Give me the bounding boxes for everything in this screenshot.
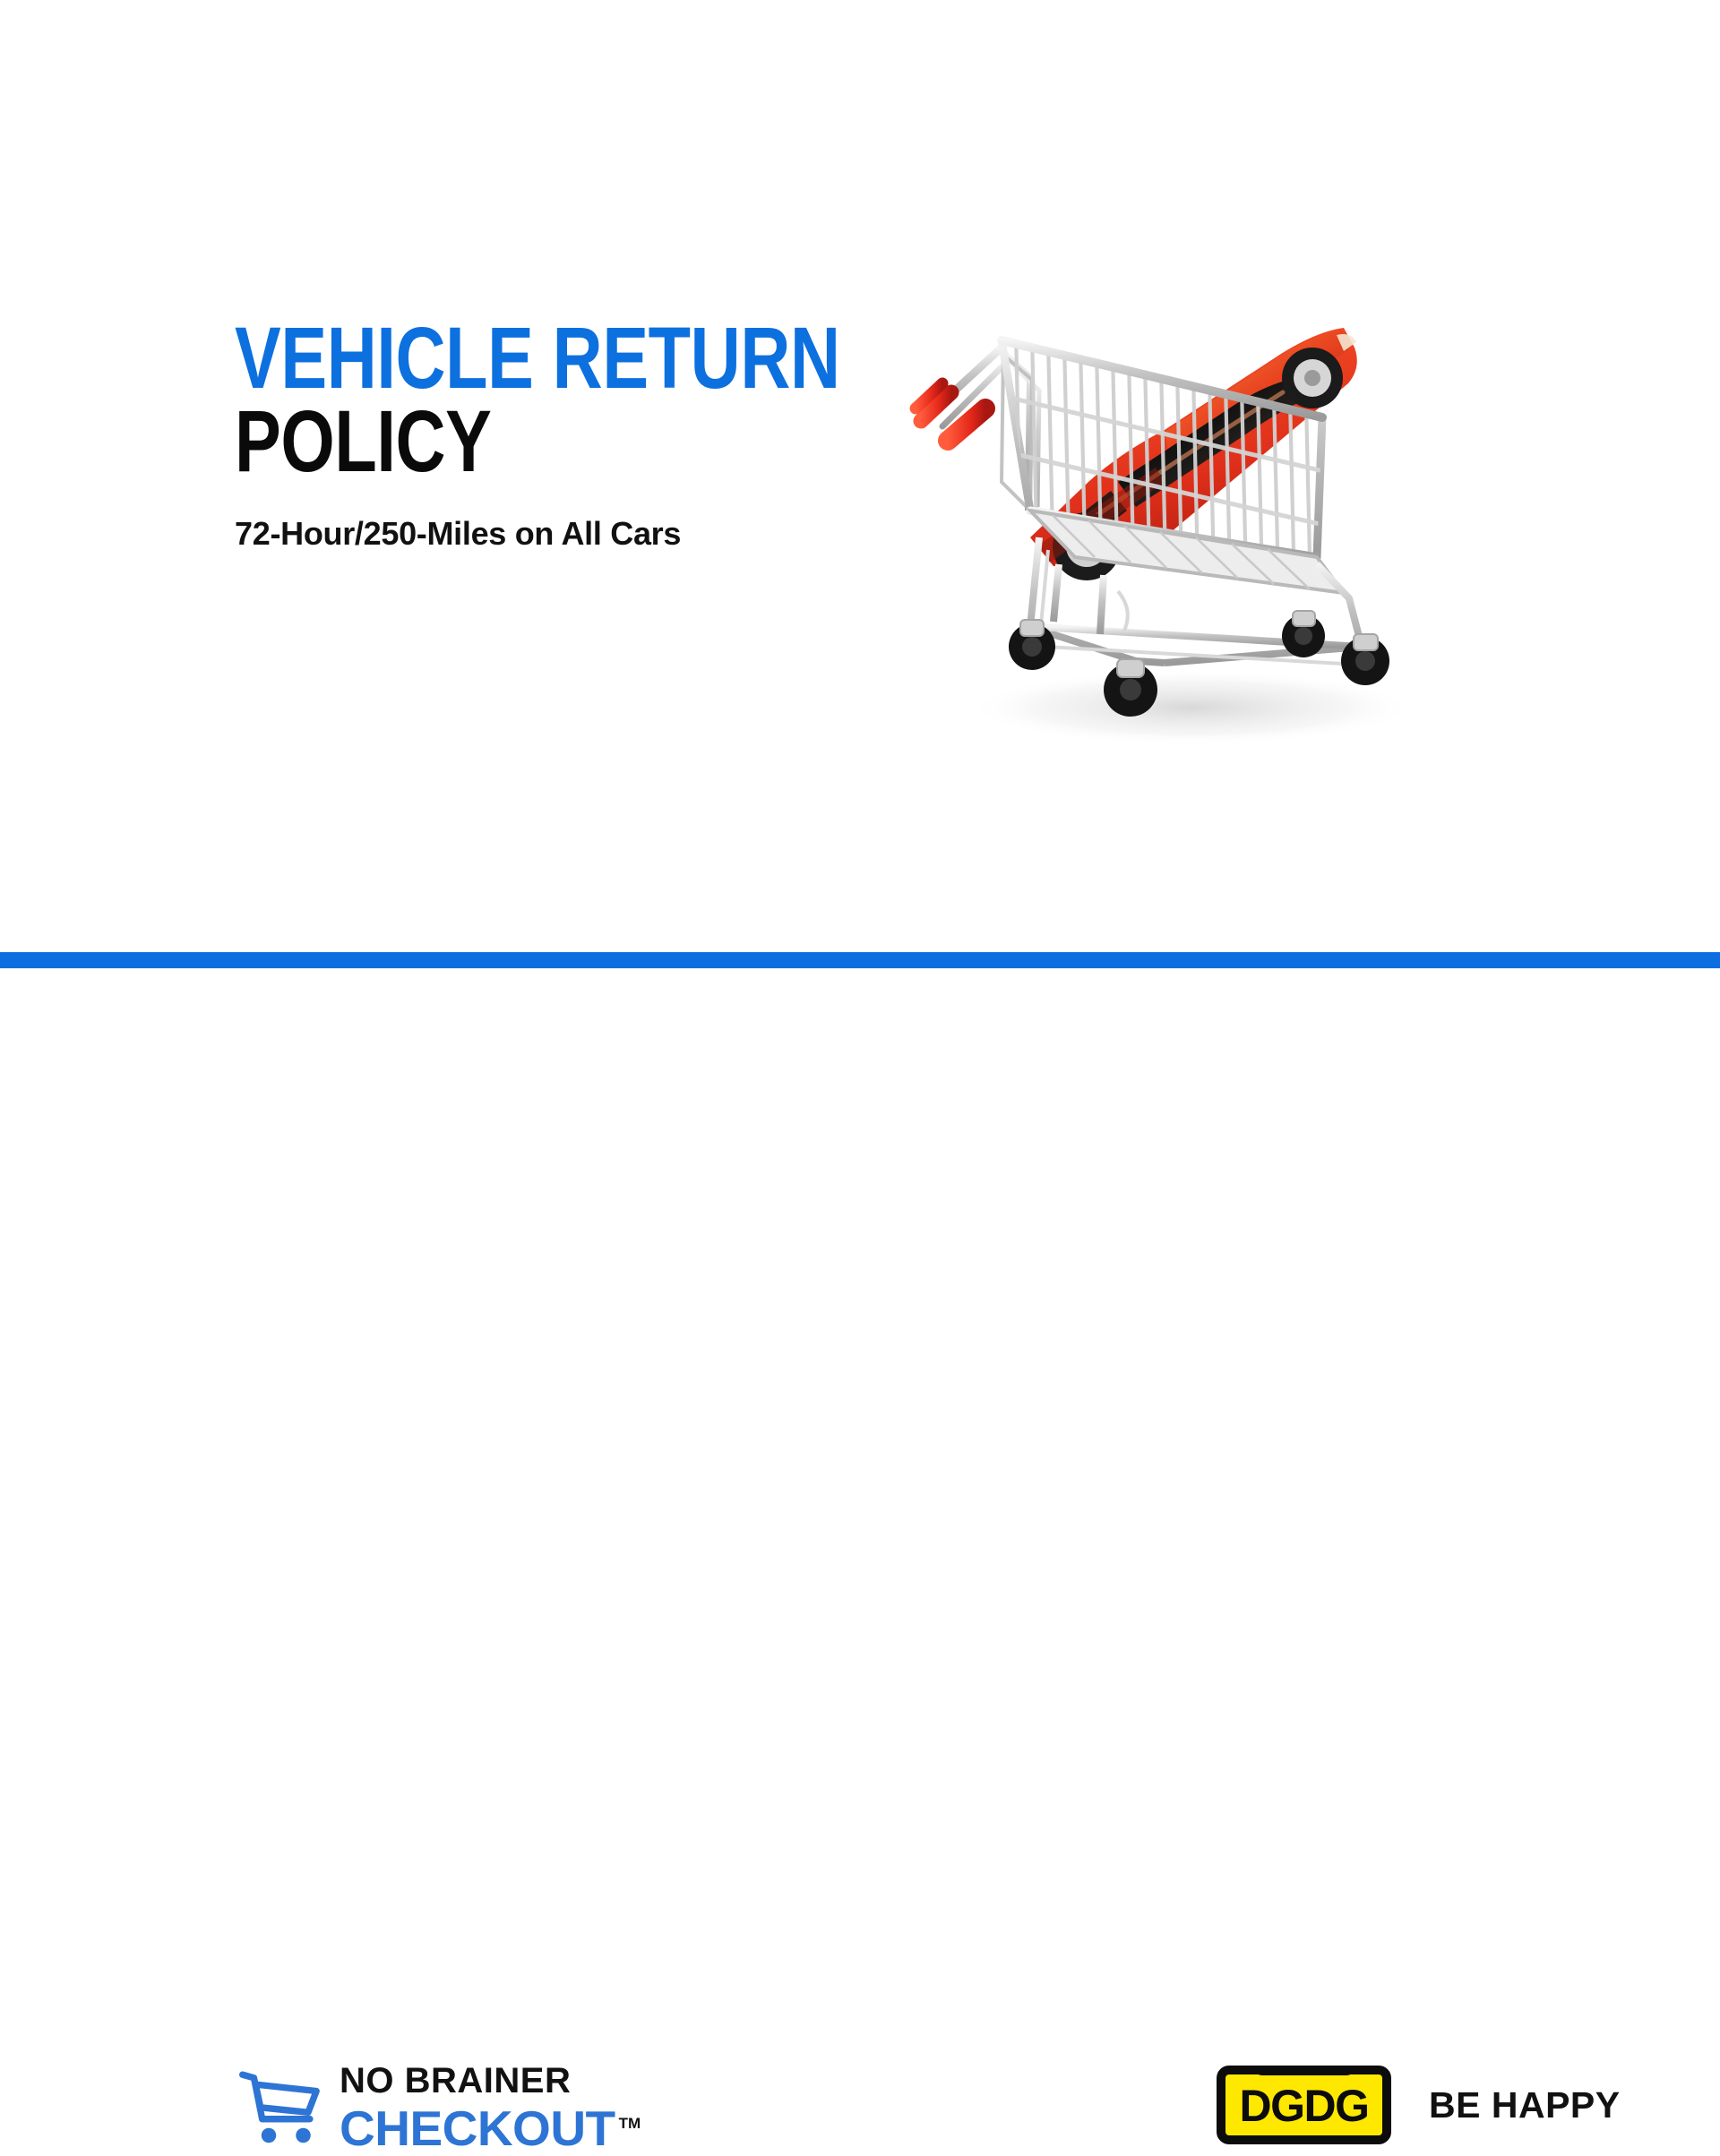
no-brainer-checkout-wordmark: NO BRAINER CHECKOUTTM xyxy=(340,2063,641,2153)
blue-divider-bar xyxy=(0,952,1720,968)
footer: NO BRAINER CHECKOUTTM DGDG BE HAPPY xyxy=(0,968,1720,1290)
trademark-symbol: TM xyxy=(619,2115,641,2132)
headline-line-2: POLICY xyxy=(235,401,736,481)
nbc-line-2-wrap: CHECKOUTTM xyxy=(340,2104,641,2153)
dgdg-badge: DGDG xyxy=(1217,2066,1391,2144)
nbc-line-1: NO BRAINER xyxy=(340,2063,641,2099)
nbc-line-2: CHECKOUT xyxy=(340,2100,615,2156)
dgdg-tagline: BE HAPPY xyxy=(1429,2084,1621,2126)
headline-line-1: VEHICLE RETURN xyxy=(235,318,736,398)
shopping-cart-with-red-car-photo xyxy=(896,242,1523,779)
text-block: VEHICLE RETURN POLICY 72-Hour/250-Miles … xyxy=(235,318,862,553)
dgdg-logo: DGDG BE HAPPY xyxy=(1217,2066,1621,2144)
main-content: VEHICLE RETURN POLICY 72-Hour/250-Miles … xyxy=(0,0,1720,966)
dgdg-badge-text: DGDG xyxy=(1240,2083,1369,2128)
no-brainer-checkout-logo: NO BRAINER CHECKOUTTM xyxy=(237,2063,641,2153)
slide-root: VEHICLE RETURN POLICY 72-Hour/250-Miles … xyxy=(0,0,1720,1290)
subtitle: 72-Hour/250-Miles on All Cars xyxy=(235,515,862,553)
shopping-cart-icon xyxy=(237,2066,320,2145)
